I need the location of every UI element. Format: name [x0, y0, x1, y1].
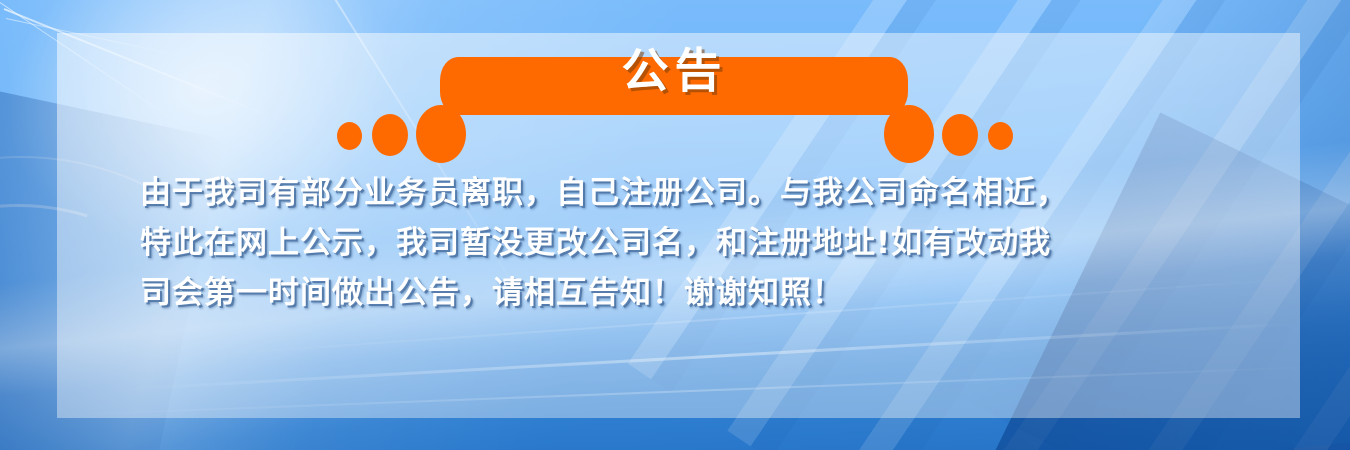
ribbon-dot-right-large	[884, 105, 934, 163]
ribbon-dot-right-small	[988, 122, 1013, 150]
announcement-line: 特此在网上公示，我司暂没更改公司名，和注册地址!如有改动我	[140, 218, 1230, 268]
ribbon-dot-left-small	[337, 122, 362, 150]
ribbon-dot-right-medium	[942, 114, 978, 156]
ribbon-dot-left-medium	[372, 114, 408, 156]
announcement-line: 由于我司有部分业务员离职，自己注册公司。与我公司命名相近，	[140, 168, 1230, 218]
announcement-banner-root: 公告 由于我司有部分业务员离职，自己注册公司。与我公司命名相近， 特此在网上公示…	[0, 0, 1350, 450]
announcement-body: 由于我司有部分业务员离职，自己注册公司。与我公司命名相近， 特此在网上公示，我司…	[140, 168, 1230, 318]
announcement-line: 司会第一时间做出公告，请相互告知！谢谢知照！	[140, 268, 1230, 318]
page-title: 公告	[461, 48, 888, 95]
